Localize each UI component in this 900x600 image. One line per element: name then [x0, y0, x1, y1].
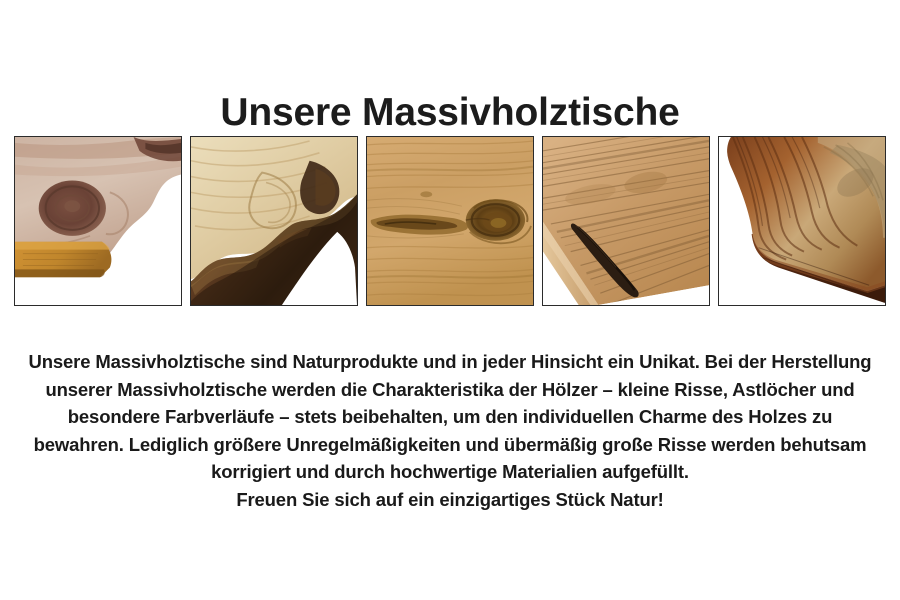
sheesham-slab-corner-photo: [719, 137, 885, 305]
gallery-photo-1[interactable]: [14, 136, 182, 306]
gallery-photo-2[interactable]: [190, 136, 358, 306]
wood-slab-knot-photo: [15, 137, 181, 305]
wood-live-edge-photo: [191, 137, 357, 305]
sawn-board-crack-photo: [543, 137, 709, 305]
body-closing-line: Freuen Sie sich auf ein einzigartiges St…: [28, 486, 872, 514]
page-root: Unsere Massivholztische: [0, 0, 900, 600]
gallery-photo-3[interactable]: [366, 136, 534, 306]
gallery-photo-4[interactable]: [542, 136, 710, 306]
wood-table-photo-strip: [14, 136, 886, 306]
body-paragraph: Unsere Massivholztische sind Naturproduk…: [28, 348, 872, 486]
body-copy: Unsere Massivholztische sind Naturproduk…: [28, 348, 872, 513]
wood-grain-knot-photo: [367, 137, 533, 305]
page-title: Unsere Massivholztische: [0, 92, 900, 135]
gallery-photo-5[interactable]: [718, 136, 886, 306]
